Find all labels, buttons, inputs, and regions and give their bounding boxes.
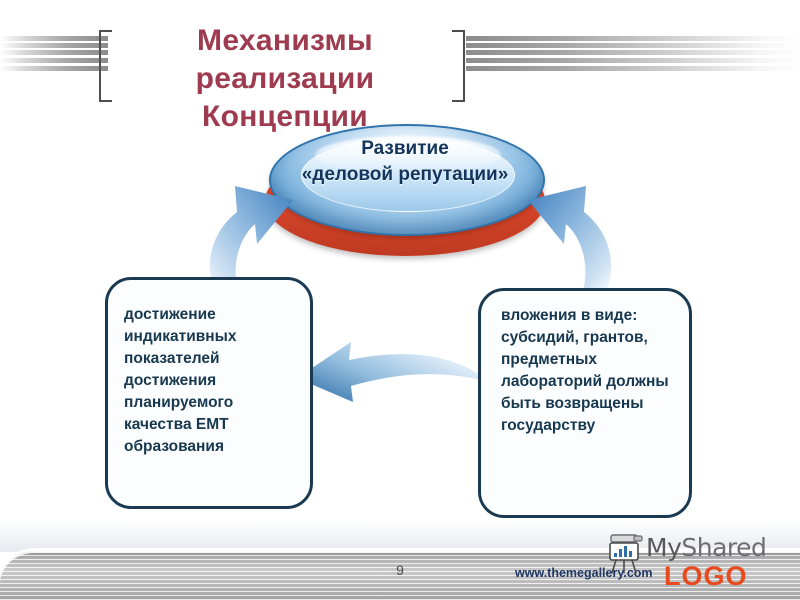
disc-label-line-1: Развитие bbox=[255, 136, 555, 162]
disc-label: Развитие «деловой репутации» bbox=[255, 136, 555, 188]
logo-my: My bbox=[646, 533, 681, 562]
header-decorative-lines-right bbox=[466, 36, 800, 80]
myshared-wordmark: MyShared bbox=[646, 533, 766, 562]
text-box-right-label: вложения в виде: субсидий, грантов, пред… bbox=[501, 305, 681, 437]
logo-shared: Shared bbox=[681, 533, 766, 562]
text-box-left-label: достижение индикативных показателей дост… bbox=[124, 304, 302, 458]
slide-canvas: Механизмы реализации Концепции Развитие … bbox=[0, 0, 800, 600]
curved-arrow-up-left-icon bbox=[508, 178, 626, 298]
logo-word: LOGO bbox=[664, 561, 748, 592]
myshared-logo[interactable]: MyShared LOGO bbox=[604, 533, 794, 589]
page-title: Механизмы реализации Концепции bbox=[110, 22, 460, 136]
header-decorative-lines-left bbox=[0, 36, 108, 80]
disc-label-line-2: «деловой репутации» bbox=[255, 162, 555, 188]
text-box-left: достижение индикативных показателей дост… bbox=[105, 277, 313, 509]
projector-icon bbox=[606, 533, 646, 577]
text-box-right: вложения в виде: субсидий, грантов, пред… bbox=[478, 288, 692, 518]
page-number: 9 bbox=[378, 562, 422, 578]
horizontal-arrow-left-icon bbox=[295, 330, 491, 406]
page-title-line-1: Механизмы bbox=[110, 22, 460, 60]
